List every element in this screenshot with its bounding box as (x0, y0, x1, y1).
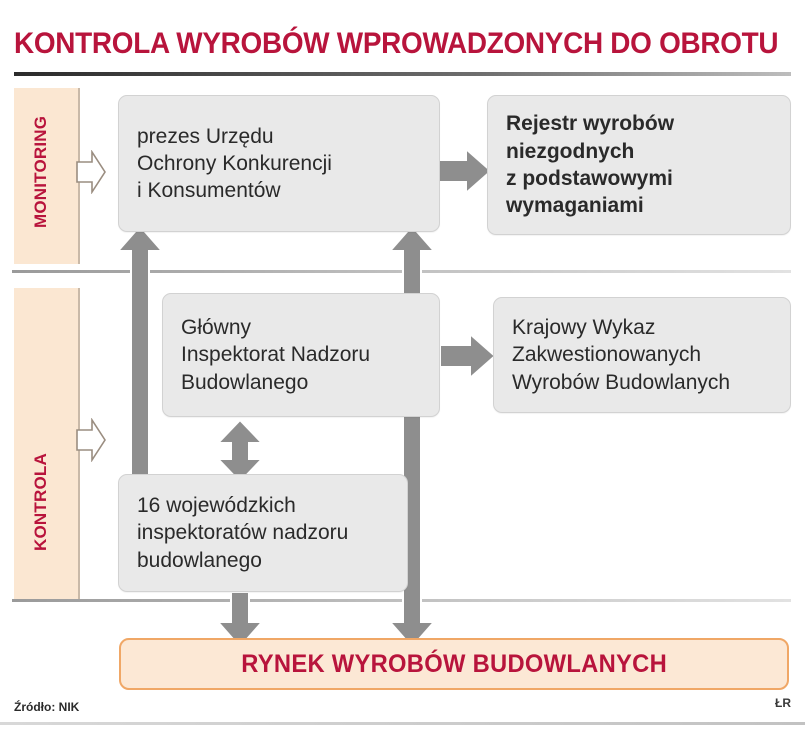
connector-ginb-to-kwzwb (440, 334, 495, 378)
box-rejestr-label: Rejestr wyrobów niezgodnych z podstawowy… (488, 110, 692, 219)
footer-divider (0, 722, 805, 725)
author-credit: ŁR (775, 696, 791, 710)
box-uokik[interactable]: prezes Urzędu Ochrony Konkurencji i Kons… (118, 95, 440, 232)
box-rejestr[interactable]: Rejestr wyrobów niezgodnych z podstawowy… (487, 95, 791, 235)
connector-ginb-winb (218, 420, 262, 482)
box-winb[interactable]: 16 wojewódzkich inspektoratów nadzoru bu… (118, 474, 408, 592)
box-kwzwb[interactable]: Krajowy Wykaz Zakwestionowanych Wyrobów … (493, 297, 791, 413)
connector-winb-to-uokik (118, 226, 162, 482)
market-bar[interactable]: RYNEK WYROBÓW BUDOWLANYCH (119, 638, 789, 690)
connector-uokik-to-rejestr (434, 149, 491, 193)
box-ginb[interactable]: Główny Inspektorat Nadzoru Budowlanego (162, 293, 440, 417)
box-ginb-label: Główny Inspektorat Nadzoru Budowlanego (163, 314, 388, 396)
market-bar-label: RYNEK WYROBÓW BUDOWLANYCH (241, 650, 667, 679)
infographic-root: KONTROLA WYROBÓW WPROWADZONYCH DO OBROTU… (0, 0, 805, 731)
source-note: Źródło: NIK (14, 700, 79, 714)
box-winb-label: 16 wojewódzkich inspektoratów nadzoru bu… (119, 492, 366, 574)
box-uokik-label: prezes Urzędu Ochrony Konkurencji i Kons… (119, 123, 350, 205)
box-kwzwb-label: Krajowy Wykaz Zakwestionowanych Wyrobów … (494, 314, 748, 396)
